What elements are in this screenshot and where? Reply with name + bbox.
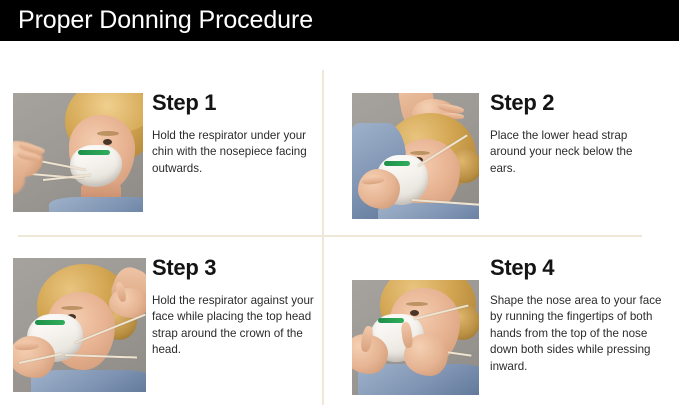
step-4-photo <box>352 280 479 395</box>
step-1-photo <box>13 93 143 212</box>
step-2-text-block: Step 2 Place the lower head strap around… <box>490 91 655 177</box>
divider-horizontal <box>18 235 642 237</box>
page-title: Proper Donning Procedure <box>18 5 313 35</box>
step-1-heading: Step 1 <box>152 91 312 115</box>
step-2-description: Place the lower head strap around your n… <box>490 128 655 177</box>
step-3-photo <box>13 258 146 392</box>
step-4-heading: Step 4 <box>490 256 670 280</box>
step-3-heading: Step 3 <box>152 256 317 280</box>
step-3-text-block: Step 3 Hold the respirator against your … <box>152 256 317 359</box>
step-1-description: Hold the respirator under your chin with… <box>152 128 312 177</box>
step-card-3: Step 3 Hold the respirator against your … <box>0 250 322 410</box>
step-card-2: Step 2 Place the lower head strap around… <box>324 85 679 235</box>
step-3-description: Hold the respirator against your face wh… <box>152 293 317 359</box>
step-card-1: Step 1 Hold the respirator under your ch… <box>0 85 322 235</box>
step-2-photo <box>352 93 479 219</box>
header-bar: Proper Donning Procedure <box>0 0 679 41</box>
step-2-heading: Step 2 <box>490 91 655 115</box>
step-1-text-block: Step 1 Hold the respirator under your ch… <box>152 91 312 177</box>
step-card-4: Step 4 Shape the nose area to your face … <box>324 250 679 415</box>
step-4-text-block: Step 4 Shape the nose area to your face … <box>490 256 670 375</box>
step-4-description: Shape the nose area to your face by runn… <box>490 293 670 375</box>
